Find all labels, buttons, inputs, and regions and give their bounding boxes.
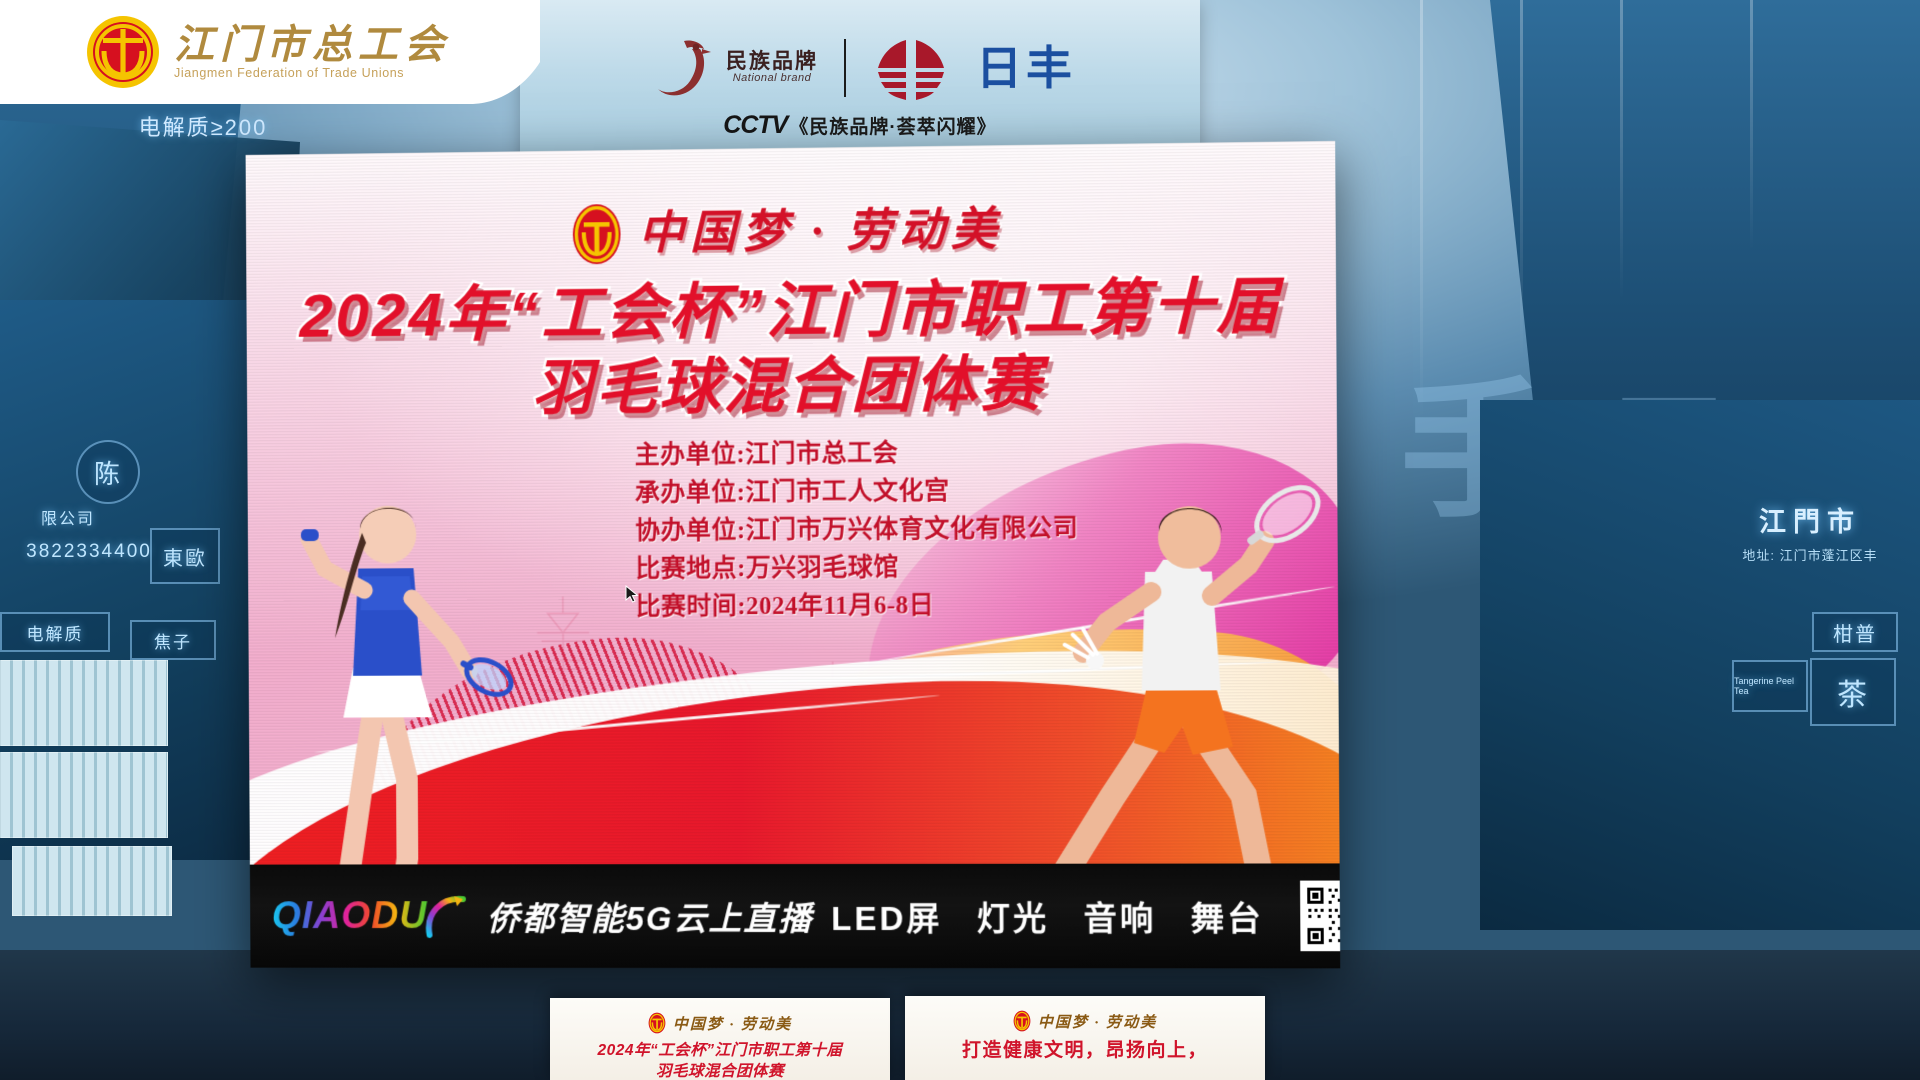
service-stage: 舞台: [1191, 892, 1264, 940]
overlay-logo-en: Jiangmen Federation of Trade Unions: [174, 67, 450, 80]
cctv-program-name: 《民族品牌·荟萃闪耀》: [789, 112, 996, 139]
qiaodu-tagline: 侨都智能5G云上直播: [487, 892, 814, 940]
service-led-screen: LED屏: [831, 892, 943, 940]
national-brand-cn: 民族品牌: [726, 51, 818, 73]
channel-logo-overlay: 江门市总工会 Jiangmen Federation of Trade Unio…: [0, 0, 540, 104]
cctv-mark: CCTV: [723, 111, 787, 140]
slogan-text: 中国梦 · 劳动美: [638, 206, 1003, 256]
left-booth-stamp: 陈: [76, 440, 140, 504]
led-services-list: LED屏 灯光 音响 舞台: [831, 892, 1264, 940]
rainbow-arc-icon: [423, 893, 469, 939]
banner-divider: [844, 39, 846, 97]
top-left-panel: 电解质≥200: [108, 104, 298, 148]
water-pallet-2: [0, 752, 168, 838]
acftu-emblem-icon: [1013, 1010, 1031, 1032]
right-booth-panel-1: 柑普: [1812, 612, 1898, 652]
event-title: 2024年“工会杯”江门市职工第十届 羽毛球混合团体赛: [246, 270, 1336, 426]
water-pallet-1: [0, 660, 168, 746]
acftu-emblem-icon: [648, 1012, 666, 1034]
screenshot-root: 小 手 艮 陈 限公司 3822334400 東歐 焦子 电解质 电解质≥200…: [0, 0, 1920, 1080]
dragon-logo-icon: [644, 31, 718, 105]
service-audio: 音响: [1083, 892, 1156, 940]
led-footer-bar: QIAODU 侨都智能5G云上直播 LED屏 灯光: [250, 863, 1340, 968]
acftu-emblem-icon: [86, 15, 160, 89]
mouse-cursor-icon: [625, 585, 639, 603]
left-booth-company: 限公司: [8, 500, 128, 534]
overlay-logo-cn: 江门市总工会: [174, 25, 450, 65]
qr-code-icon[interactable]: [1300, 881, 1340, 952]
standee-slogan-poster: 中国梦 · 劳动美 打造健康文明，昂扬向上，: [905, 996, 1265, 1080]
standee-1-line-1: 2024年“工会杯”江门市职工第十届: [566, 1041, 874, 1062]
event-title-line-2: 羽毛球混合团体赛: [247, 346, 1337, 426]
right-booth-title-text: 江門市: [1710, 500, 1910, 539]
right-booth-title: 江門市 地址: 江门市蓬江区丰: [1710, 500, 1910, 564]
national-brand-logo: 民族品牌 National brand: [644, 31, 818, 105]
right-booth-address: 地址: 江门市蓬江区丰: [1710, 545, 1910, 564]
rifeng-brand-cn: 日丰: [976, 45, 1076, 91]
standee-2-slogan: 中国梦 · 劳动美: [1038, 1011, 1157, 1032]
national-brand-en: National brand: [733, 73, 812, 85]
led-stage-screen: 中国梦 · 劳动美 2024年“工会杯”江门市职工第十届 羽毛球混合团体赛 主办…: [246, 141, 1341, 968]
rifeng-logo-icon: [872, 32, 950, 104]
slogan-row: 中国梦 · 劳动美: [246, 193, 1336, 269]
water-pallet-3: [12, 846, 172, 916]
standee-1-header: 中国梦 · 劳动美: [566, 1012, 874, 1034]
right-booth-panel-sub: Tangerine Peel Tea: [1732, 660, 1808, 712]
event-title-line-1: 2024年“工会杯”江门市职工第十届: [246, 270, 1336, 352]
right-booth-panel-2: 茶: [1810, 658, 1896, 726]
left-booth-panel-1: 東歐: [150, 528, 220, 584]
standee-2-line-1: 打造健康文明，昂扬向上，: [921, 1039, 1249, 1064]
acftu-emblem-icon: [570, 202, 622, 266]
standee-1-slogan: 中国梦 · 劳动美: [673, 1013, 792, 1034]
standee-2-header: 中国梦 · 劳动美: [921, 1010, 1249, 1032]
standee-event-poster: 中国梦 · 劳动美 2024年“工会杯”江门市职工第十届 羽毛球混合团体赛: [550, 998, 890, 1080]
service-lighting: 灯光: [977, 892, 1050, 940]
left-booth-panel-3: 电解质: [0, 612, 110, 652]
qiaodu-logo: QIAODU: [272, 893, 469, 939]
standee-1-line-2: 羽毛球混合团体赛: [566, 1062, 874, 1080]
left-booth-phone: 3822334400: [4, 538, 174, 566]
left-booth-panel-2: 焦子: [130, 620, 216, 660]
qiaodu-wordmark: QIAODU: [272, 895, 428, 938]
